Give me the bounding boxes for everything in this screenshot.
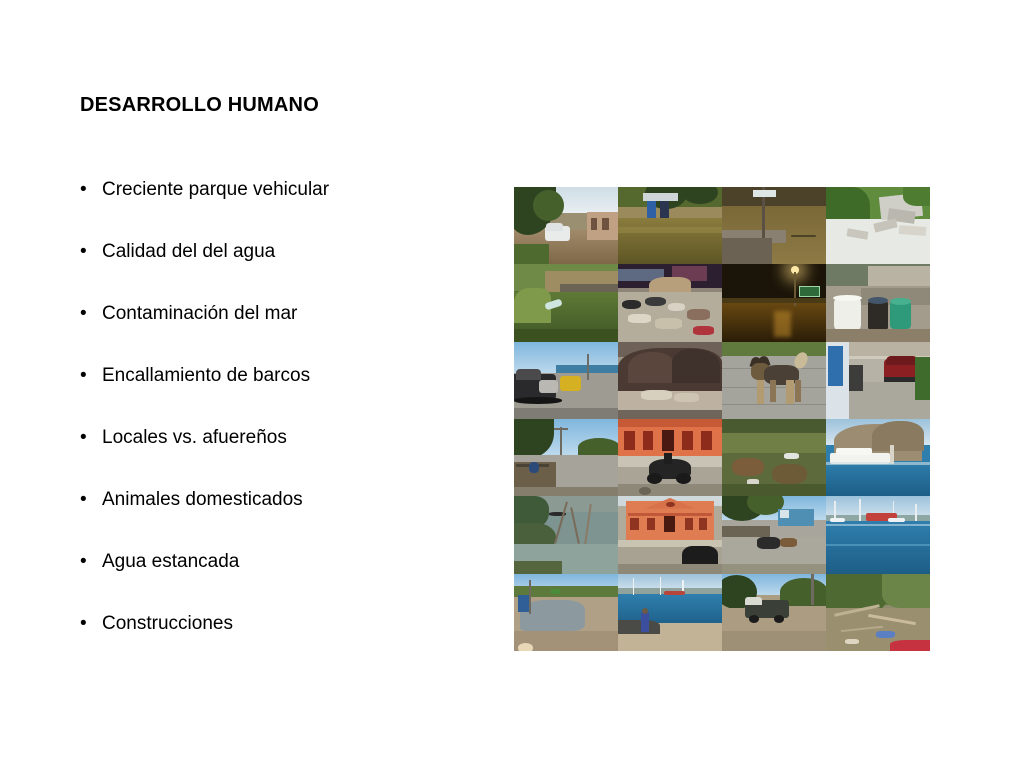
list-item-label: Locales vs. afuereños [102, 427, 287, 448]
collage-photo [618, 187, 722, 264]
list-item-label: Calidad del del agua [102, 241, 275, 262]
collage-photo [618, 496, 722, 573]
presentation-slide: DESARROLLO HUMANO • Creciente parque veh… [0, 0, 1024, 768]
photo-collage [514, 187, 930, 651]
collage-photo [514, 187, 618, 264]
collage-photo [618, 574, 722, 651]
collage-photo [826, 574, 930, 651]
list-item: • Encallamiento de barcos [78, 362, 498, 424]
collage-photo [722, 496, 826, 573]
collage-photo [514, 496, 618, 573]
collage-photo [618, 264, 722, 341]
bullet-point-icon: • [80, 424, 87, 452]
collage-photo [722, 264, 826, 341]
collage-photo [514, 574, 618, 651]
list-item: • Animales domesticados [78, 486, 498, 548]
collage-photo [514, 342, 618, 419]
collage-photo [514, 419, 618, 496]
collage-photo [722, 419, 826, 496]
collage-photo [826, 264, 930, 341]
list-item-label: Creciente parque vehicular [102, 179, 329, 200]
list-item-label: Contaminación del mar [102, 303, 297, 324]
list-item: • Agua estancada [78, 548, 498, 610]
bullet-point-icon: • [80, 238, 87, 266]
collage-photo [514, 264, 618, 341]
bullet-point-icon: • [80, 610, 87, 638]
bullet-point-icon: • [80, 176, 87, 204]
bullet-point-icon: • [80, 362, 87, 390]
list-item: • Calidad del del agua [78, 238, 498, 300]
page-title: DESARROLLO HUMANO [80, 94, 319, 117]
collage-photo [826, 496, 930, 573]
list-item-label: Construcciones [102, 613, 233, 634]
bullet-point-icon: • [80, 486, 87, 514]
collage-photo [722, 187, 826, 264]
list-item-label: Encallamiento de barcos [102, 365, 310, 386]
bullet-list: • Creciente parque vehicular • Calidad d… [78, 176, 498, 672]
list-item: • Creciente parque vehicular [78, 176, 498, 238]
list-item-label: Animales domesticados [102, 489, 303, 510]
bullet-point-icon: • [80, 548, 87, 576]
list-item: • Locales vs. afuereños [78, 424, 498, 486]
list-item: • Contaminación del mar [78, 300, 498, 362]
collage-photo [618, 342, 722, 419]
collage-photo [826, 342, 930, 419]
collage-photo [826, 419, 930, 496]
collage-photo [618, 419, 722, 496]
bullet-point-icon: • [80, 300, 87, 328]
collage-photo [722, 574, 826, 651]
list-item-label: Agua estancada [102, 551, 239, 572]
list-item: • Construcciones [78, 610, 498, 672]
collage-photo [722, 342, 826, 419]
collage-photo [826, 187, 930, 264]
